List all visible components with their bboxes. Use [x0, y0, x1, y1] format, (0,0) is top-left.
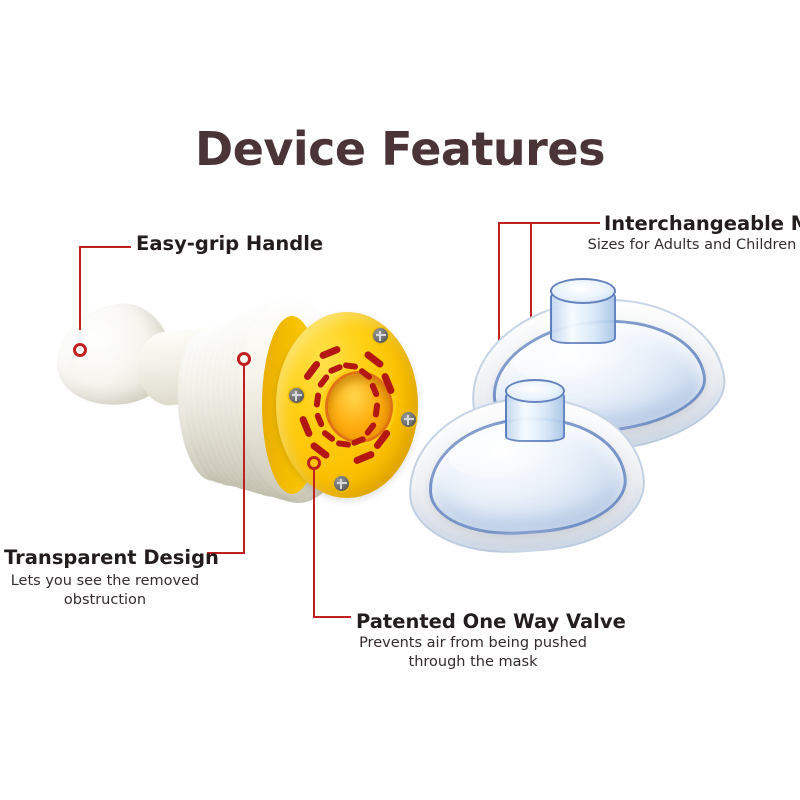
- valve-disc-graphic: [262, 312, 418, 498]
- leader-line-valve-vertical: [313, 468, 315, 618]
- valve-vent-slot: [352, 450, 375, 465]
- valve-screw: [334, 476, 349, 491]
- transparent-subtitle-line-2: obstruction: [64, 592, 146, 608]
- leader-line-transparent-vertical: [243, 364, 245, 554]
- transparent-subtitle-line-1: Lets you see the removed: [11, 573, 200, 589]
- valve-vent-slot: [321, 429, 337, 443]
- valve-vent-slot: [343, 362, 359, 370]
- valve-vent-slot: [363, 350, 385, 369]
- valve-screw: [289, 388, 304, 403]
- leader-line-valve-horizontal: [313, 616, 351, 618]
- callout-title-easy-grip-handle: Easy-grip Handle: [136, 232, 323, 255]
- valve-vent-slot: [335, 440, 351, 448]
- callout-subtitle-patented-one-way-valve: Prevents air from being pushed through t…: [348, 634, 598, 671]
- callout-title-patented-one-way-valve: Patented One Way Valve: [356, 610, 626, 633]
- valve-center-opening: [328, 374, 390, 440]
- valve-subtitle-line-1: Prevents air from being pushed: [359, 635, 587, 651]
- leader-line-handle-vertical: [79, 248, 81, 330]
- leader-line-mask-horizontal: [498, 222, 600, 224]
- valve-vent-slot: [313, 392, 321, 408]
- marker-transparent: [237, 352, 251, 366]
- marker-valve: [307, 456, 321, 470]
- callout-subtitle-transparent-design: Lets you see the removed obstruction: [0, 572, 210, 609]
- mask-port-opening: [505, 379, 565, 403]
- callout-title-transparent-design: Transparent Design: [4, 546, 219, 569]
- valve-vent-slot: [299, 415, 314, 438]
- valve-screw: [373, 328, 388, 343]
- valve-subtitle-line-2: through the mask: [409, 654, 538, 670]
- valve-face-graphic: [276, 312, 418, 498]
- marker-handle: [73, 343, 87, 357]
- leader-line-handle-horizontal: [79, 246, 131, 248]
- infographic-canvas: Device Features Easy-grip Handle Interch…: [0, 0, 800, 800]
- valve-vent-slot: [314, 412, 325, 428]
- valve-vent-slot: [316, 374, 330, 390]
- callout-subtitle-interchangeable-mask: Sizes for Adults and Children: [584, 236, 800, 255]
- callout-title-interchangeable-mask: Interchangeable Mask: [604, 212, 800, 235]
- page-title: Device Features: [0, 122, 800, 176]
- valve-vent-slot: [327, 363, 343, 374]
- valve-vent-slot: [319, 345, 342, 360]
- valve-vent-slot: [303, 359, 322, 381]
